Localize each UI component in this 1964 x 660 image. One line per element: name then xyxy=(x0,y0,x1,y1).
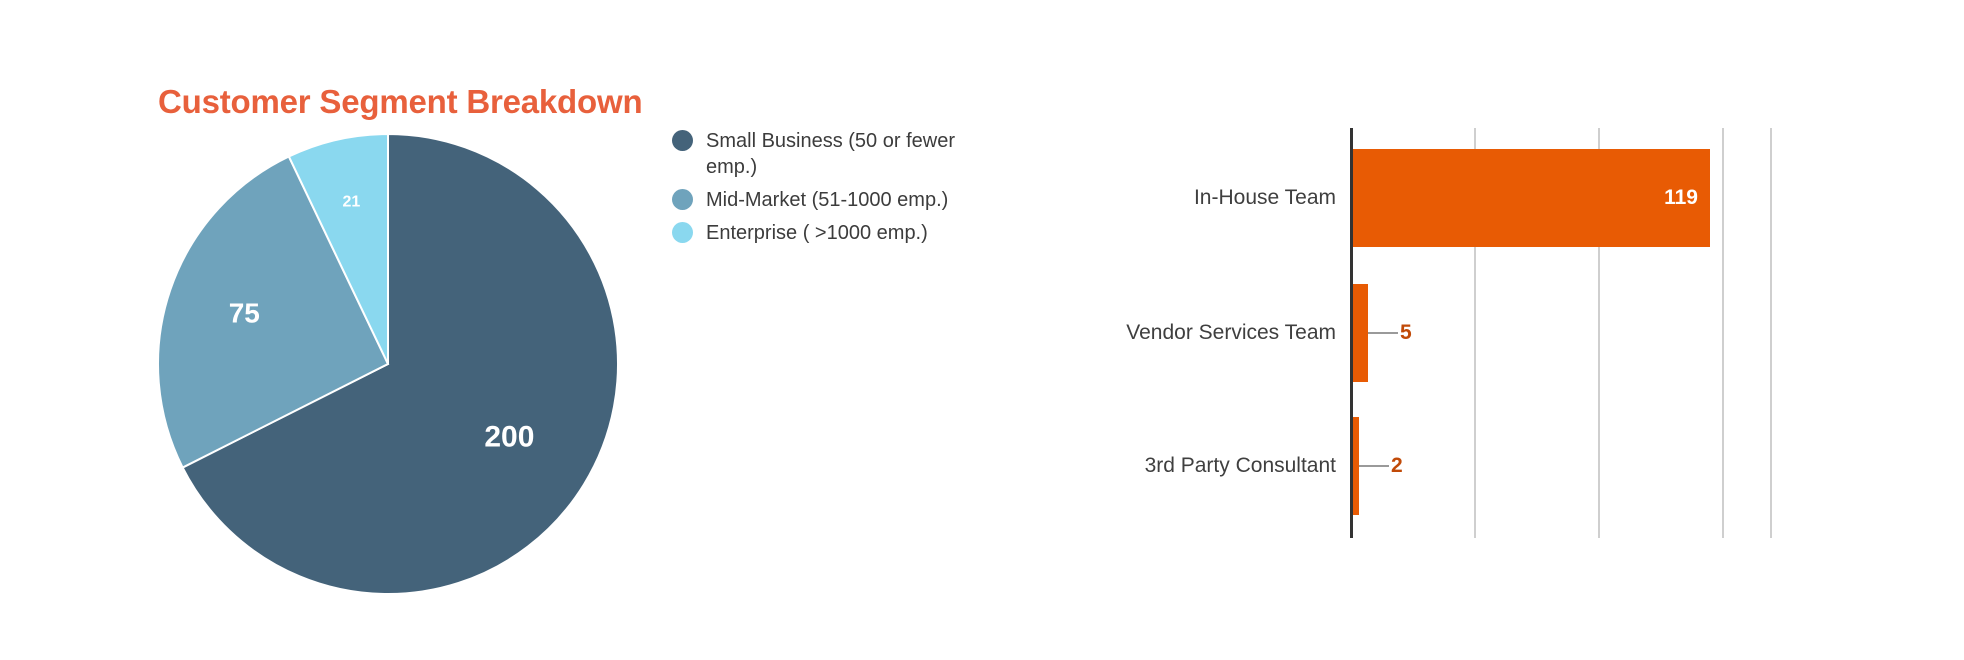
bar-category-label-in-house-team: In-House Team xyxy=(1106,186,1336,210)
pie-chart-svg: 200 75 21 xyxy=(157,133,619,595)
bar-value-label-vendor-services-team: 5 xyxy=(1400,321,1412,345)
pie-label-mid-market: 75 xyxy=(229,297,260,328)
bar-category-label-3rd-party-consultant: 3rd Party Consultant xyxy=(1106,454,1336,478)
bar-plot-area: 119 5 2 xyxy=(1350,128,1848,538)
legend-swatch-icon xyxy=(672,189,693,210)
customer-segment-panel: Customer Segment Breakdown 200 75 21 xyxy=(0,0,1090,660)
dashboard-canvas: Customer Segment Breakdown 200 75 21 xyxy=(0,0,1964,660)
bar-category-axis: In-House Team Vendor Services Team 3rd P… xyxy=(1108,128,1350,538)
bar-category-label-vendor-services-team: Vendor Services Team xyxy=(1106,321,1336,345)
bar-value-label-3rd-party-consultant: 2 xyxy=(1391,454,1403,478)
bar-leader-line xyxy=(1359,465,1389,467)
bar-in-house-team[interactable] xyxy=(1353,149,1710,247)
pie-slices xyxy=(158,134,618,594)
bar-vendor-services-team[interactable] xyxy=(1353,284,1368,382)
legend-item-label: Enterprise ( >1000 emp.) xyxy=(706,220,928,246)
pie-legend: Small Business (50 or fewer emp.) Mid-Ma… xyxy=(672,128,1002,253)
pie-chart: 200 75 21 xyxy=(157,133,619,595)
pie-label-enterprise: 21 xyxy=(343,194,361,211)
legend-item-label: Mid-Market (51-1000 emp.) xyxy=(706,187,948,213)
bar-leader-line xyxy=(1368,332,1398,334)
gridline xyxy=(1722,128,1724,538)
pie-label-small-business: 200 xyxy=(484,421,534,454)
pie-chart-title: Customer Segment Breakdown xyxy=(158,83,642,121)
bar-value-label-in-house-team: 119 xyxy=(1664,186,1698,210)
legend-swatch-icon xyxy=(672,222,693,243)
legend-item[interactable]: Mid-Market (51-1000 emp.) xyxy=(672,187,1002,213)
legend-item[interactable]: Small Business (50 or fewer emp.) xyxy=(672,128,1002,180)
legend-item[interactable]: Enterprise ( >1000 emp.) xyxy=(672,220,1002,246)
bar-chart: In-House Team Vendor Services Team 3rd P… xyxy=(1108,128,1848,538)
gridline xyxy=(1770,128,1772,538)
legend-item-label: Small Business (50 or fewer emp.) xyxy=(706,128,956,180)
legend-swatch-icon xyxy=(672,130,693,151)
